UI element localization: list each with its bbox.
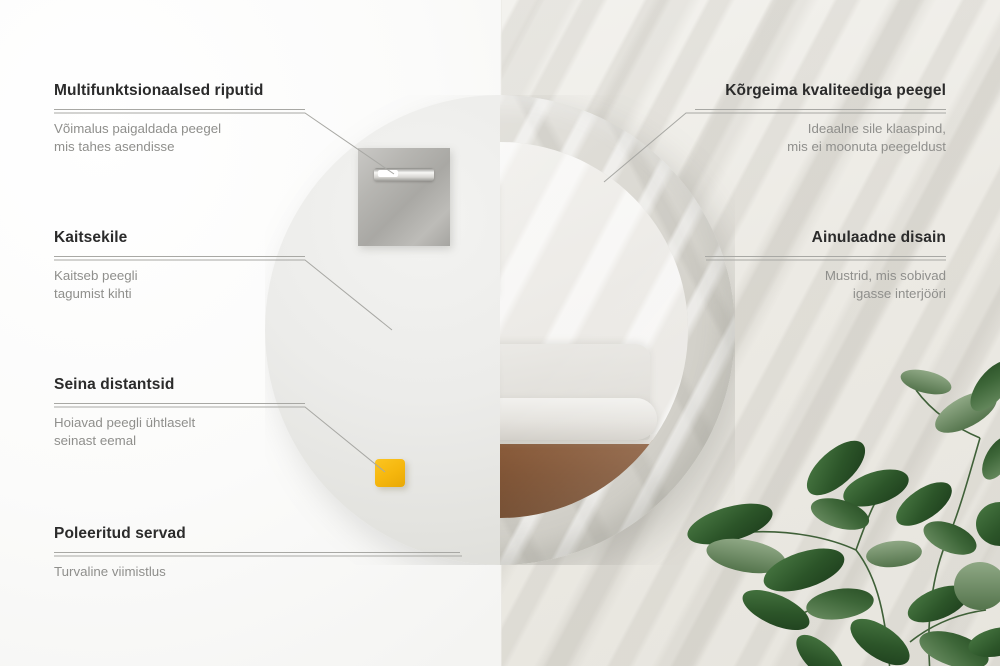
callout-description: Turvaline viimistlus	[54, 563, 460, 581]
callout-description: Hoiavad peegli ühtlaselt seinast eemal	[54, 414, 305, 449]
callout-title: Poleeritud servad	[54, 525, 460, 543]
wall-spacer-body	[375, 459, 405, 487]
callout-divider	[54, 403, 305, 404]
callout-multifunktsionaalsed-riputid: Multifunktsionaalsed riputid Võimalus pa…	[54, 82, 305, 155]
infographic-canvas: Multifunktsionaalsed riputid Võimalus pa…	[0, 0, 1000, 666]
foliage-leaves	[683, 354, 1000, 666]
hanger-keyhole-slot	[374, 168, 434, 181]
callout-divider	[54, 109, 305, 110]
callout-title: Multifunktsionaalsed riputid	[54, 82, 305, 100]
callout-description: Mustrid, mis sobivad igasse interjööri	[705, 267, 946, 302]
callout-description: Võimalus paigaldada peegel mis tahes ase…	[54, 120, 305, 155]
callout-divider	[54, 552, 460, 553]
callout-title: Kõrgeima kvaliteediga peegel	[695, 82, 946, 100]
hanger-plate-body	[358, 148, 450, 246]
callout-title: Ainulaadne disain	[705, 229, 946, 247]
callout-poleeritud-servad: Poleeritud servad Turvaline viimistlus	[54, 525, 460, 581]
callout-divider	[695, 109, 946, 110]
mirror-product	[265, 95, 735, 565]
callout-korgeima-kvaliteediga-peegel: Kõrgeima kvaliteediga peegel Ideaalne si…	[695, 82, 946, 155]
callout-description: Ideaalne sile klaaspind, mis ei moonuta …	[695, 120, 946, 155]
hanger-plate	[358, 148, 450, 246]
callout-kaitsekile: Kaitsekile Kaitseb peegli tagumist kihti	[54, 229, 305, 302]
callout-divider	[54, 256, 305, 257]
wall-spacer	[375, 459, 405, 487]
callout-description: Kaitseb peegli tagumist kihti	[54, 267, 305, 302]
callout-ainulaadne-disain: Ainulaadne disain Mustrid, mis sobivad i…	[705, 229, 946, 302]
callout-seina-distantsid: Seina distantsid Hoiavad peegli ühtlasel…	[54, 376, 305, 449]
callout-title: Kaitsekile	[54, 229, 305, 247]
callout-divider	[705, 256, 946, 257]
callout-title: Seina distantsid	[54, 376, 305, 394]
foliage-decoration	[680, 342, 1000, 666]
